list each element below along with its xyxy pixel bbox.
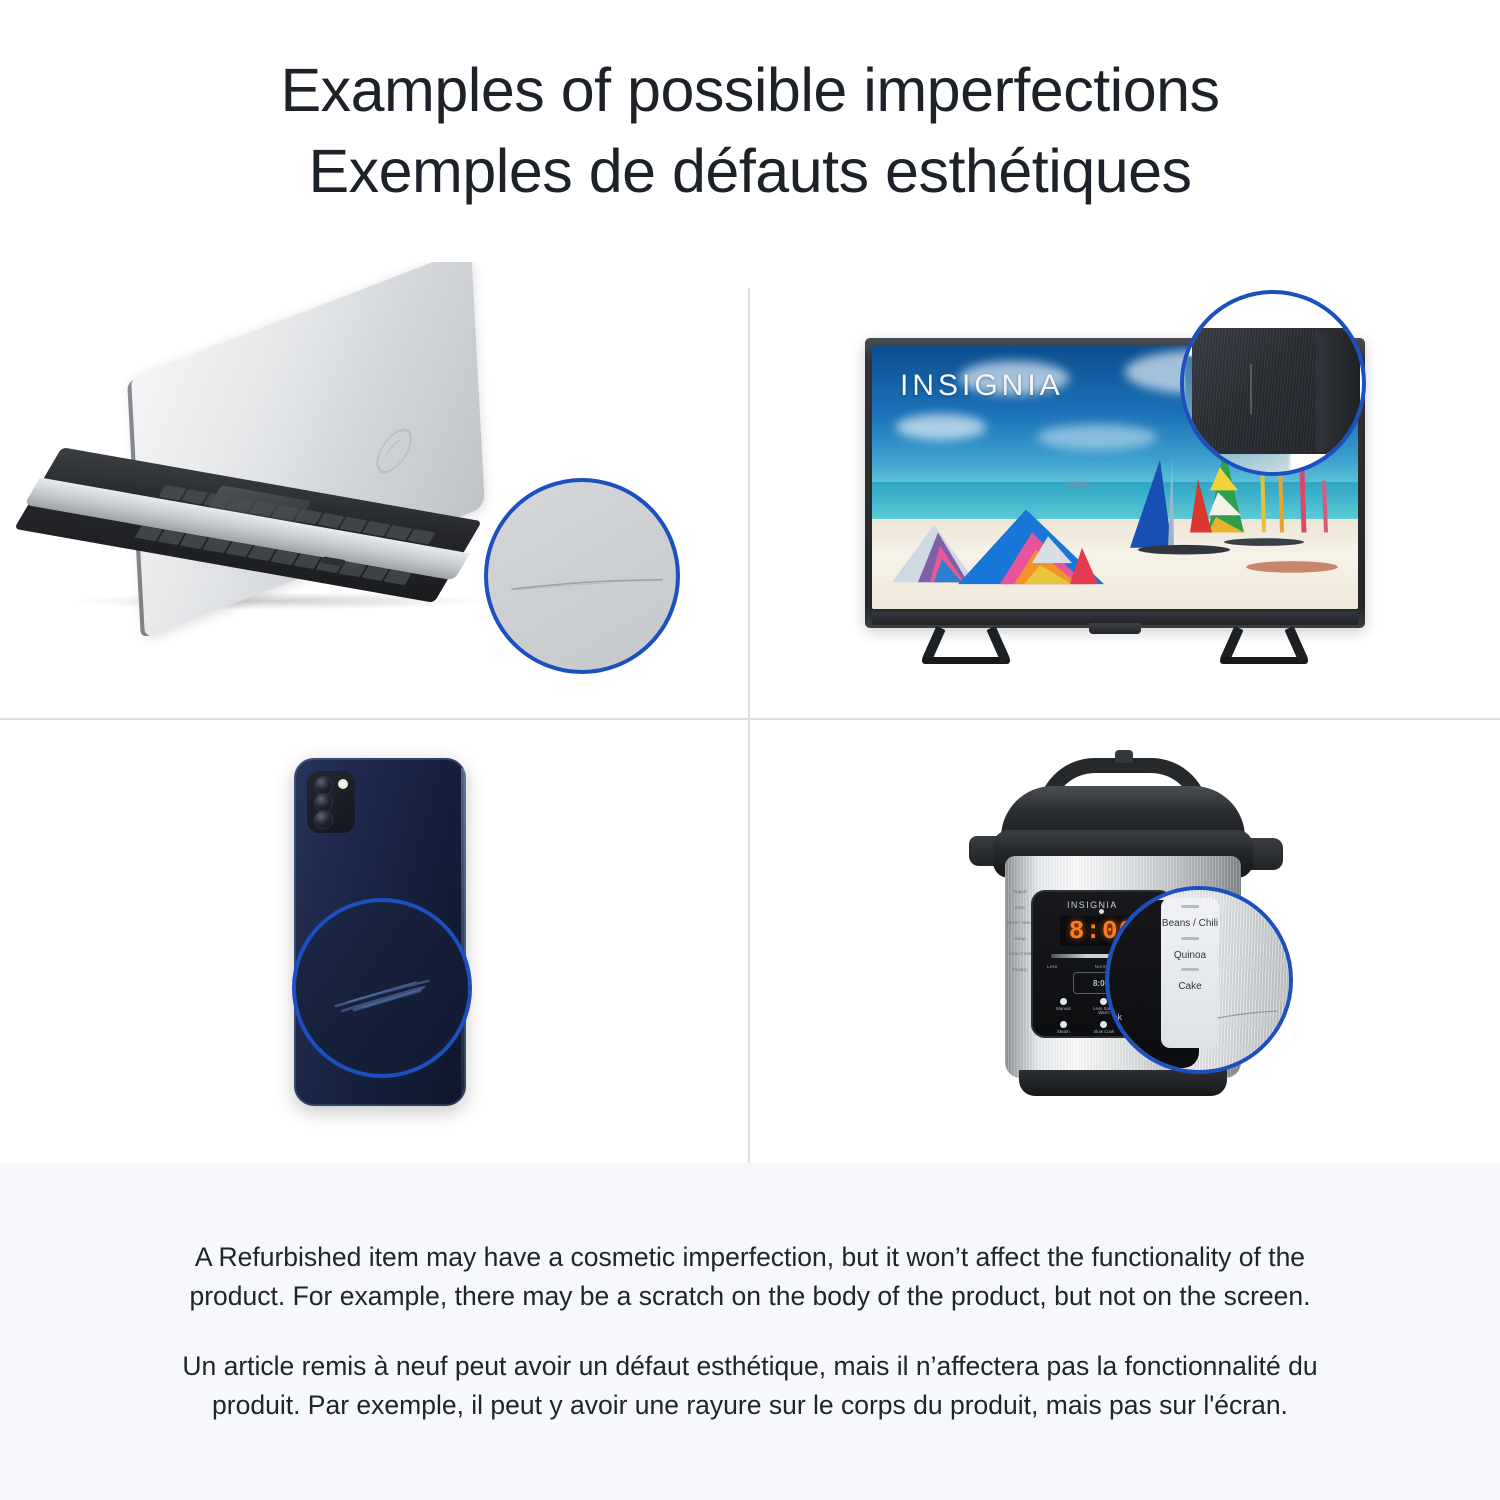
camera-flash-icon [338, 779, 348, 789]
tv-scuff-mark [1250, 364, 1252, 414]
cooker-label-less: Less [1047, 964, 1058, 969]
cooker-button-slow-cook[interactable]: Slow Cook [1007, 952, 1033, 958]
page-header: Examples of possible imperfections Exemp… [0, 0, 1500, 262]
laptop-illustration [30, 292, 720, 692]
tile-television: INSIGNIA [750, 262, 1500, 718]
cooker-button-rice[interactable]: Rice [1007, 906, 1033, 912]
cooker-button-soup[interactable]: Soup [1007, 937, 1033, 943]
tv-stand-foot-right [1218, 628, 1310, 664]
magnifier-tv-scuff [1180, 290, 1366, 476]
phone-scratch-marks [332, 974, 442, 1014]
laptop-scratch-mark [510, 578, 664, 592]
disclaimer-paragraph-fr: Un article remis à neuf peut avoir un dé… [180, 1347, 1320, 1425]
smartphone-edge-highlight [461, 768, 466, 1096]
tv-ir-receiver-icon [1089, 623, 1141, 634]
cooker-button-poultry[interactable]: Poultry [1007, 968, 1033, 974]
magnified-tv-side-panel [1316, 332, 1360, 452]
camera-lens-icon [314, 810, 333, 829]
magnifier-cooker-scratch: Delay Slow Cook Beans / Chili Quinoa Cak… [1105, 886, 1293, 1074]
cooker-scratch-mark [1217, 1008, 1279, 1020]
magnified-button-beans[interactable]: Beans / Chili [1161, 908, 1219, 930]
product-example-grid: INSIGNIA [0, 262, 1500, 1163]
tv-stand-foot-left [920, 628, 1012, 664]
cooker-button-yogurt[interactable]: Yogurt [1007, 890, 1033, 896]
cooker-indicator-light-icon [1099, 909, 1104, 914]
page-title-en: Examples of possible imperfections [280, 50, 1219, 131]
television-illustration: INSIGNIA [810, 290, 1450, 690]
cooker-key-manual[interactable]: Manual [1046, 998, 1080, 1016]
cooker-left-button-column: Yogurt Rice Meat / Stew Soup Slow Cook P… [1007, 890, 1033, 1038]
page-title-fr: Exemples de défauts esthétiques [308, 131, 1191, 212]
magnified-button-strip: Beans / Chili Quinoa Cake [1161, 898, 1219, 1048]
magnifier-phone-scratches [292, 898, 472, 1078]
cooker-button-meat-stew[interactable]: Meat / Stew [1007, 921, 1033, 927]
magnified-button-quinoa[interactable]: Quinoa [1161, 940, 1219, 962]
tile-smartphone [0, 720, 748, 1163]
cooker-key-steam[interactable]: Steam [1046, 1021, 1080, 1034]
disclaimer-paragraph-en: A Refurbished item may have a cosmetic i… [180, 1238, 1320, 1316]
refurbished-imperfections-infographic: Examples of possible imperfections Exemp… [0, 0, 1500, 1500]
cooker-steam-valve-icon [1115, 750, 1133, 763]
footer-disclaimer: A Refurbished item may have a cosmetic i… [0, 1163, 1500, 1500]
smartphone-illustration [250, 750, 500, 1130]
pressure-cooker-illustration: Yogurt Rice Meat / Stew Soup Slow Cook P… [945, 738, 1345, 1148]
tile-laptop [0, 262, 748, 718]
tv-brand-logo: INSIGNIA [900, 369, 1064, 403]
magnifier-laptop-scratch [484, 478, 680, 674]
magnified-button-cake[interactable]: Cake [1161, 971, 1219, 993]
magnifier-tv-content [1184, 294, 1362, 472]
laptop-brand-logo-icon [374, 419, 414, 482]
smartphone-camera-module [307, 771, 355, 833]
tile-pressure-cooker: Yogurt Rice Meat / Stew Soup Slow Cook P… [750, 720, 1500, 1163]
